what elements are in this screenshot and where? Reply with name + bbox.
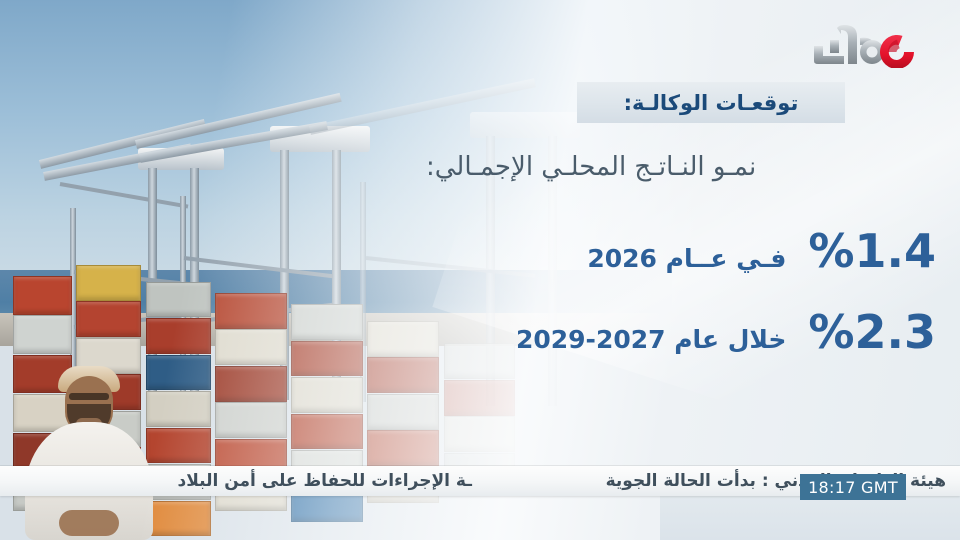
time-badge: 18:17 GMT: [800, 474, 906, 500]
banner-title: توقعـات الوكالـة:: [624, 91, 799, 115]
stat-label: فـي عــام 2026: [587, 244, 786, 273]
stat-label: خلال عام 2027-2029: [516, 325, 786, 354]
stat-value: %2.3: [808, 305, 936, 359]
report-subheading: نمـو النـاتـج المحلـي الإجمـالي:: [236, 152, 936, 182]
broadcast-screen: توقعـات الوكالـة: نمـو النـاتـج المحلـي …: [0, 0, 960, 540]
time-text: 18:17 GMT: [808, 478, 898, 497]
stat-row: %1.4 فـي عــام 2026: [587, 224, 936, 278]
stat-row: %2.3 خلال عام 2027-2029: [516, 305, 936, 359]
stat-value: %1.4: [808, 224, 936, 278]
oman-tv-logo: [810, 22, 918, 68]
headline-banner: توقعـات الوكالـة:: [577, 82, 845, 123]
ticker-headline: ـة الإجراءات للحفاظ على أمن البلاد: [178, 471, 473, 491]
